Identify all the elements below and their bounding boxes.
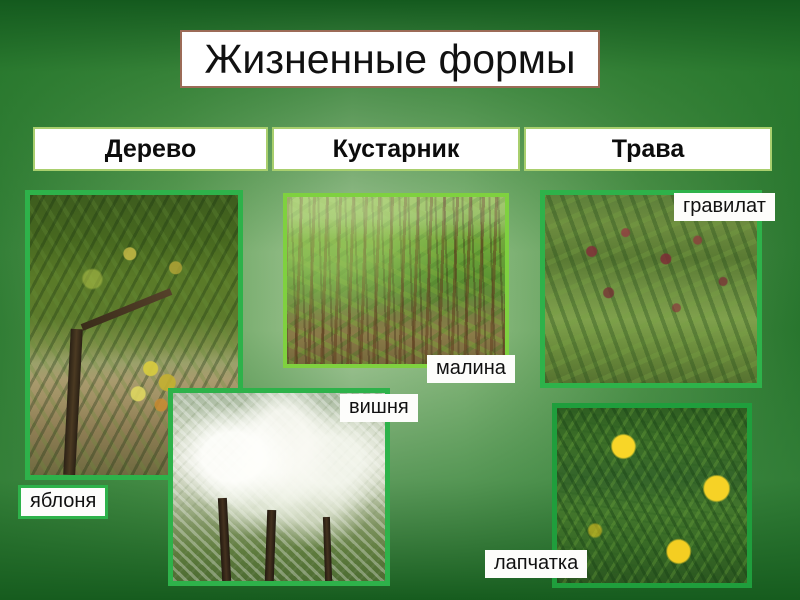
caption-raspberry: малина bbox=[427, 355, 515, 383]
photo-raspberry-image bbox=[287, 197, 505, 364]
photo-gravilat-image bbox=[545, 195, 757, 383]
column-header-herb: Трава bbox=[524, 127, 772, 171]
cherry-trunk-1 bbox=[217, 498, 230, 581]
caption-apple-tree: яблоня bbox=[18, 485, 108, 519]
caption-apple-tree-text: яблоня bbox=[30, 490, 96, 513]
column-header-herb-label: Трава bbox=[612, 137, 684, 162]
slide-canvas: Жизненные формы Дерево Кустарник Трава г… bbox=[0, 0, 800, 600]
column-header-tree: Дерево bbox=[33, 127, 268, 171]
caption-cherry-tree-text: вишня bbox=[349, 396, 409, 419]
cherry-trunk-2 bbox=[265, 509, 276, 581]
caption-gravilat: гравилат bbox=[674, 193, 775, 221]
caption-cherry-tree: вишня bbox=[340, 394, 418, 422]
page-title: Жизненные формы bbox=[180, 30, 600, 88]
column-header-tree-label: Дерево bbox=[105, 137, 197, 162]
column-header-shrub: Кустарник bbox=[272, 127, 520, 171]
page-title-text: Жизненные формы bbox=[205, 39, 576, 80]
apple-trunk bbox=[64, 329, 84, 475]
caption-cinquefoil: лапчатка bbox=[485, 550, 587, 578]
photo-raspberry bbox=[283, 193, 509, 368]
cherry-trunk-3 bbox=[322, 517, 331, 581]
caption-cinquefoil-text: лапчатка bbox=[494, 552, 578, 575]
column-header-shrub-label: Кустарник bbox=[333, 137, 460, 162]
apple-branch bbox=[81, 288, 172, 330]
caption-gravilat-text: гравилат bbox=[683, 195, 766, 218]
caption-raspberry-text: малина bbox=[436, 357, 506, 380]
